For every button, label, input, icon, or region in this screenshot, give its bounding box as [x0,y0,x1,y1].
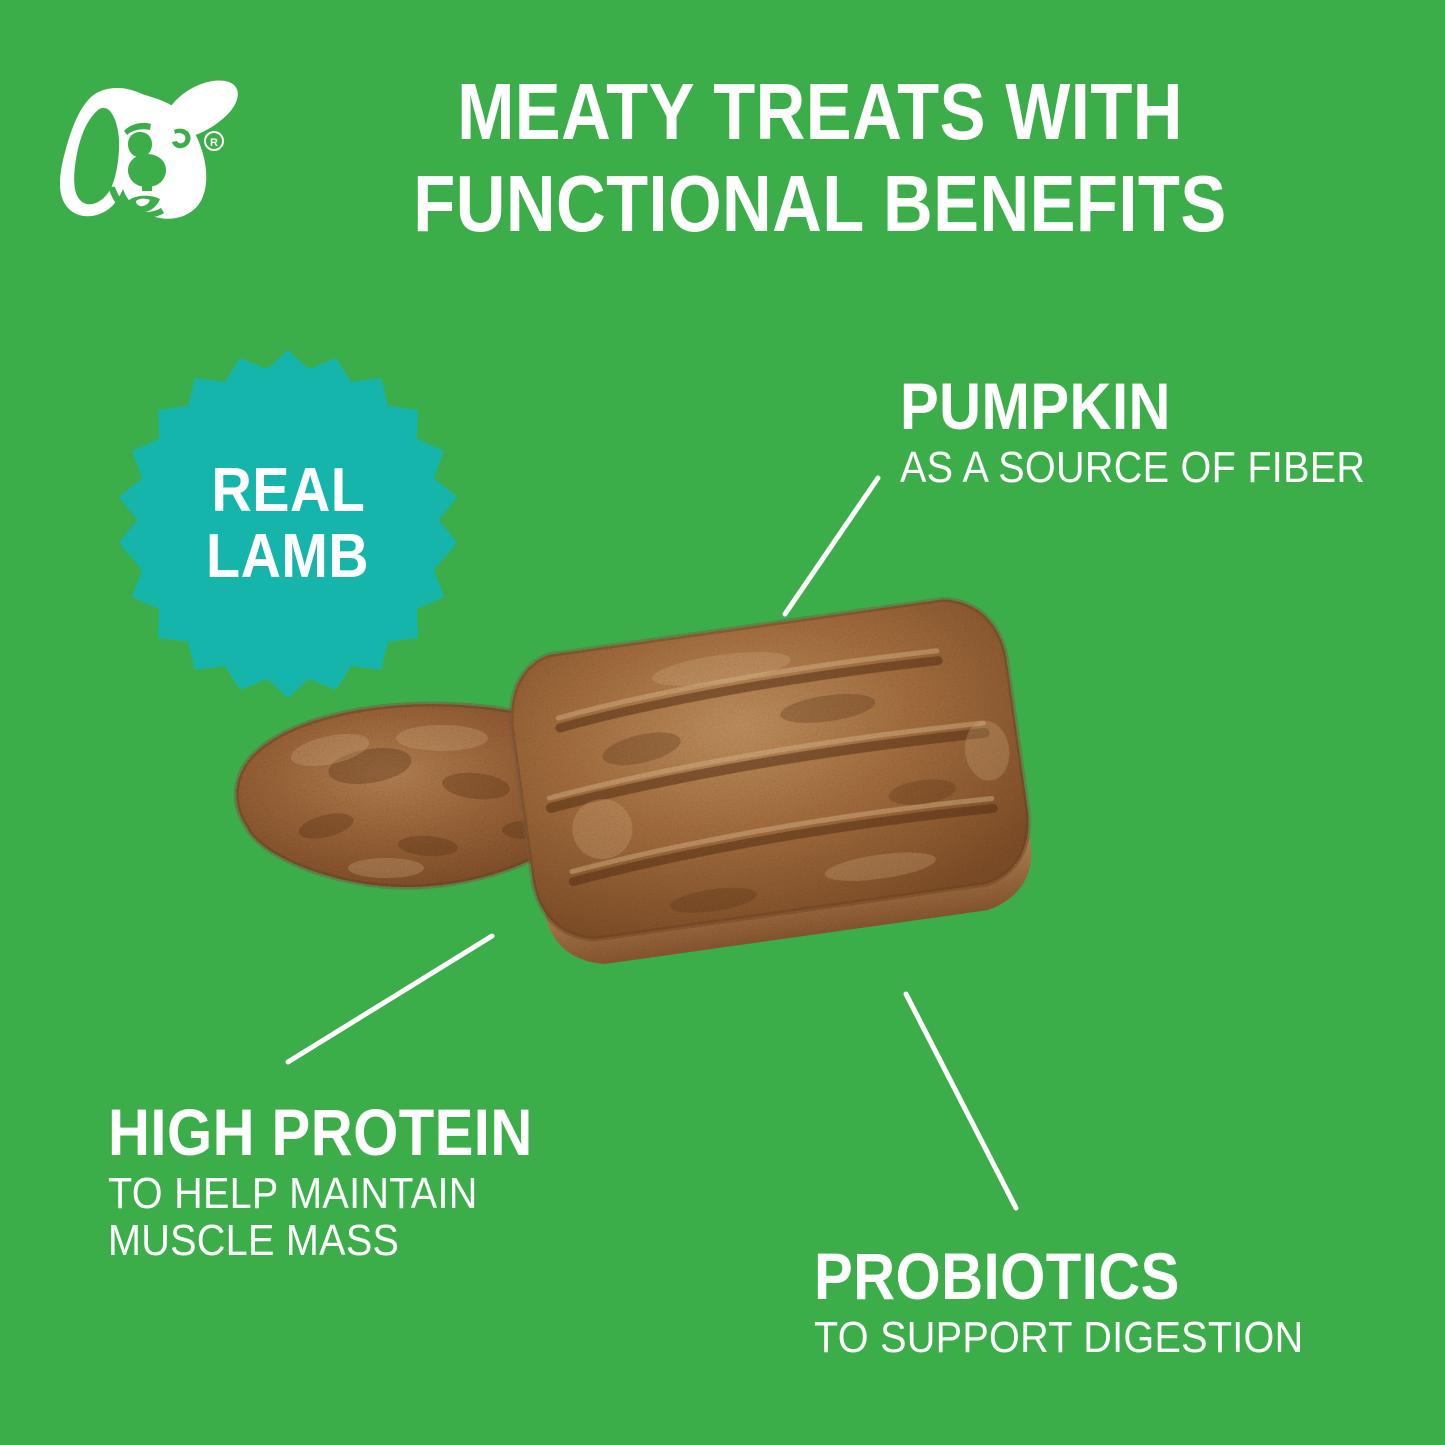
callout-pumpkin-title: PUMPKIN [900,372,1355,440]
milk-bone-dog-head-logo: R [24,58,244,273]
headline-line-1: MEATY TREATS WITH [313,72,1328,152]
callout-high-protein: HIGH PROTEIN TO HELP MAINTAIN MUSCLE MAS… [108,1098,591,1264]
page-title: MEATY TREATS WITH FUNCTIONAL BENEFITS [230,72,1410,244]
callout-probiotics-subtitle: TO SUPPORT DIGESTION [814,1314,1304,1361]
product-benefits-infographic: R MEATY TREATS WITH FUNCTIONAL BENEFITS … [0,0,1445,1445]
headline-line-2: FUNCTIONAL BENEFITS [313,164,1328,244]
callout-probiotics-title: PROBIOTICS [814,1242,1293,1310]
callout-pumpkin-subtitle: AS A SOURCE OF FIBER [900,444,1365,491]
two-meaty-lamb-treat-patties [180,580,1140,1040]
rectangular-grilled-meaty-treat [502,592,1041,973]
registered-trademark-icon: R [205,132,223,150]
callout-high-protein-title: HIGH PROTEIN [108,1098,533,1166]
callout-pumpkin: PUMPKIN AS A SOURCE OF FIBER [900,372,1417,491]
callout-high-protein-subtitle: TO HELP MAINTAIN MUSCLE MASS [108,1170,542,1264]
svg-text:R: R [210,137,218,149]
callout-probiotics: PROBIOTICS TO SUPPORT DIGESTION [814,1242,1358,1361]
